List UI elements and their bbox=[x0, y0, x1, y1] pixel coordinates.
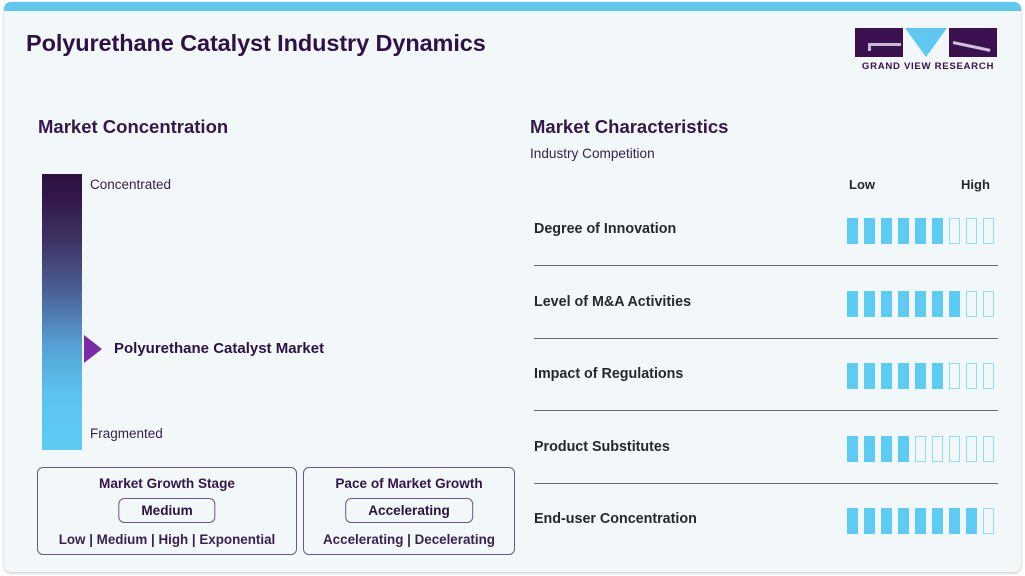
rating-segment-empty bbox=[966, 363, 977, 389]
market-characteristics-heading: Market Characteristics bbox=[530, 116, 728, 138]
rating-bars bbox=[847, 363, 994, 389]
row-label: Level of M&A Activities bbox=[534, 294, 691, 310]
rating-segment-filled bbox=[881, 218, 892, 244]
market-growth-stage-scale: Low | Medium | High | Exponential bbox=[38, 532, 296, 547]
rating-segment-filled bbox=[898, 218, 909, 244]
rating-segment-empty bbox=[915, 436, 926, 462]
rating-segment-empty bbox=[949, 436, 960, 462]
rating-segment-filled bbox=[898, 291, 909, 317]
logo-left-block-icon bbox=[855, 28, 903, 57]
rating-segment-filled bbox=[898, 436, 909, 462]
rating-segment-empty bbox=[966, 436, 977, 462]
rating-segment-filled bbox=[881, 291, 892, 317]
rating-segment-filled bbox=[966, 508, 977, 534]
gradient-bottom-label: Fragmented bbox=[90, 426, 163, 441]
rating-segment-empty bbox=[949, 363, 960, 389]
rating-bars bbox=[847, 218, 994, 244]
logo-triangle-icon bbox=[905, 28, 947, 57]
rating-bars bbox=[847, 436, 994, 462]
rating-segment-filled bbox=[864, 436, 875, 462]
logo-wordmark: GRAND VIEW RESEARCH bbox=[855, 61, 1001, 72]
row-label: Impact of Regulations bbox=[534, 366, 683, 382]
rating-segment-filled bbox=[881, 363, 892, 389]
top-accent-bar bbox=[4, 2, 1021, 11]
market-growth-stage-box: Market Growth Stage Medium Low | Medium … bbox=[37, 467, 297, 555]
pace-of-market-growth-title: Pace of Market Growth bbox=[304, 476, 514, 491]
logo-right-block-icon bbox=[949, 28, 997, 57]
rating-segment-filled bbox=[949, 291, 960, 317]
rating-segment-empty bbox=[983, 363, 994, 389]
rating-segment-filled bbox=[847, 291, 858, 317]
rating-segment-empty bbox=[949, 218, 960, 244]
market-position-arrow-icon bbox=[84, 335, 102, 363]
rating-segment-empty bbox=[983, 436, 994, 462]
rating-segment-empty bbox=[983, 218, 994, 244]
rating-segment-filled bbox=[915, 363, 926, 389]
rating-segment-filled bbox=[898, 508, 909, 534]
rating-segment-empty bbox=[966, 218, 977, 244]
table-row: Degree of Innovation bbox=[534, 207, 998, 279]
market-characteristics-subheading: Industry Competition bbox=[530, 146, 655, 161]
rating-segment-filled bbox=[915, 218, 926, 244]
rating-segment-filled bbox=[847, 436, 858, 462]
rating-segment-filled bbox=[864, 291, 875, 317]
page-title: Polyurethane Catalyst Industry Dynamics bbox=[26, 30, 486, 57]
axis-label-low: Low bbox=[849, 177, 875, 192]
rating-segment-filled bbox=[932, 363, 943, 389]
pace-of-market-growth-value: Accelerating bbox=[345, 498, 473, 523]
table-row: Impact of Regulations bbox=[534, 352, 998, 424]
rating-segment-empty bbox=[966, 291, 977, 317]
row-divider bbox=[534, 410, 998, 411]
rating-segment-filled bbox=[881, 436, 892, 462]
row-divider bbox=[534, 338, 998, 339]
table-row: End-user Concentration bbox=[534, 497, 998, 569]
market-growth-stage-title: Market Growth Stage bbox=[38, 476, 296, 491]
rating-segment-filled bbox=[915, 291, 926, 317]
rating-segment-filled bbox=[932, 291, 943, 317]
infographic-card: Polyurethane Catalyst Industry Dynamics … bbox=[4, 2, 1021, 572]
rating-segment-filled bbox=[898, 363, 909, 389]
rating-segment-filled bbox=[949, 508, 960, 534]
rating-segment-filled bbox=[864, 508, 875, 534]
brand-logo: GRAND VIEW RESEARCH bbox=[855, 28, 1001, 76]
rating-segment-filled bbox=[847, 508, 858, 534]
rating-segment-empty bbox=[983, 291, 994, 317]
rating-segment-filled bbox=[864, 363, 875, 389]
row-label: End-user Concentration bbox=[534, 511, 697, 527]
rating-segment-filled bbox=[915, 508, 926, 534]
table-row: Level of M&A Activities bbox=[534, 280, 998, 352]
rating-segment-filled bbox=[847, 363, 858, 389]
rating-segment-filled bbox=[864, 218, 875, 244]
rating-bars bbox=[847, 508, 994, 534]
logo-marks bbox=[855, 28, 1001, 58]
gradient-top-label: Concentrated bbox=[90, 177, 171, 192]
rating-segment-filled bbox=[932, 508, 943, 534]
rating-segment-filled bbox=[932, 218, 943, 244]
rating-segment-filled bbox=[847, 218, 858, 244]
rating-segment-filled bbox=[881, 508, 892, 534]
pace-of-market-growth-box: Pace of Market Growth Accelerating Accel… bbox=[303, 467, 515, 555]
market-concentration-heading: Market Concentration bbox=[38, 116, 228, 138]
row-label: Product Substitutes bbox=[534, 439, 670, 455]
axis-label-high: High bbox=[961, 177, 990, 192]
pace-of-market-growth-scale: Accelerating | Decelerating bbox=[304, 532, 514, 547]
rating-bars bbox=[847, 291, 994, 317]
table-row: Product Substitutes bbox=[534, 425, 998, 497]
concentration-gradient-bar bbox=[42, 174, 82, 450]
market-position-label: Polyurethane Catalyst Market bbox=[114, 340, 324, 357]
rating-segment-empty bbox=[983, 508, 994, 534]
row-divider bbox=[534, 265, 998, 266]
market-growth-stage-value: Medium bbox=[118, 498, 215, 523]
row-label: Degree of Innovation bbox=[534, 221, 676, 237]
rating-segment-empty bbox=[932, 436, 943, 462]
row-divider bbox=[534, 483, 998, 484]
